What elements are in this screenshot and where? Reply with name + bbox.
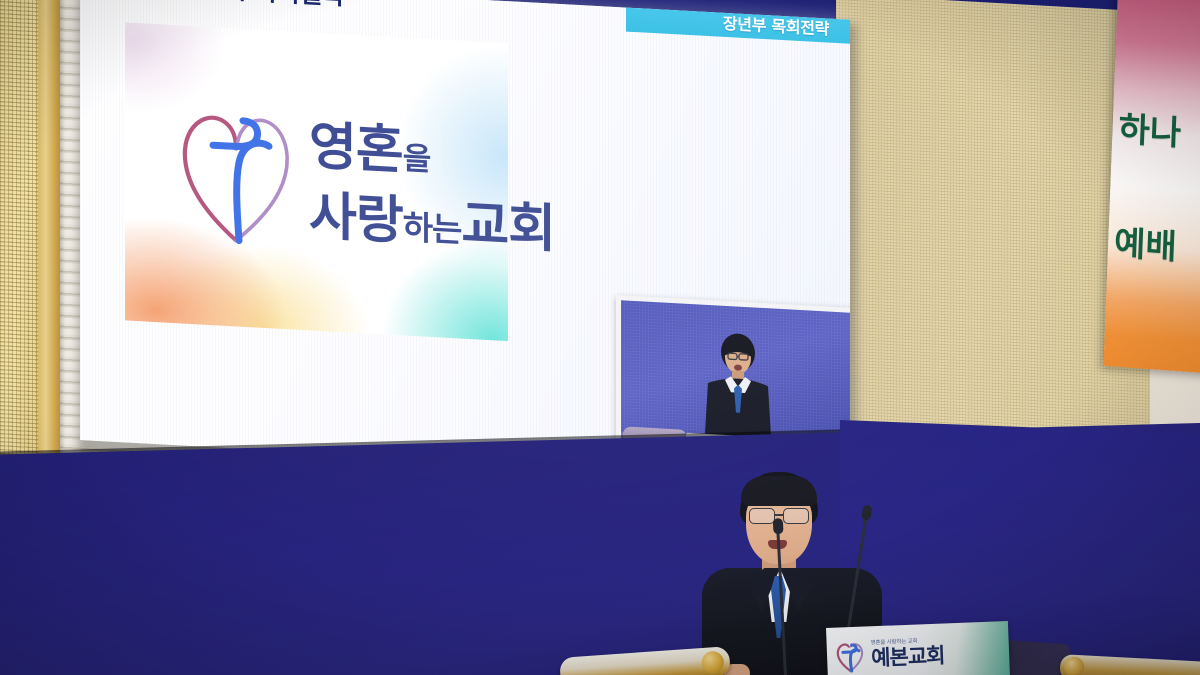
perforated-acoustic-panel (0, 0, 40, 489)
rail-knob-right (1064, 656, 1085, 675)
logo-panel: 영혼을 사랑하는교회 (125, 22, 508, 341)
projection-screen: 1. 예본교회 목회철학 장년부 목회전략 영혼을 사랑하는교회 (80, 0, 850, 482)
slide-title: 1. 예본교회 목회철학 (122, 0, 344, 12)
wood-pillar (38, 0, 60, 487)
banner-line-2: 예배 (1114, 226, 1200, 272)
logo-line-2: 사랑하는교회 (309, 173, 555, 261)
podium-church-name: 예본교회 (871, 646, 945, 670)
podium-sign: 영혼을 사랑하는 교회 예본교회 (826, 621, 1010, 675)
banner-line-1: 하나 (1118, 112, 1200, 158)
church-logo: 영혼을 사랑하는교회 (177, 77, 507, 275)
church-logo-wordmark: 영혼을 사랑하는교회 (309, 99, 507, 260)
logo-line-1: 영혼을 (309, 103, 430, 185)
rail-knob-left (701, 651, 724, 674)
podium-sign-text: 영혼을 사랑하는 교회 예본교회 (871, 638, 945, 669)
podium-logo-icon (834, 639, 865, 674)
speaker-hair-front (741, 476, 817, 506)
vertical-banner: 하나 예배 (1103, 0, 1200, 374)
presentation-scene: 하나 예배 1. 예본교회 목회철학 장년부 목회전략 영혼을 (0, 0, 1200, 675)
heart-person-logo-icon (177, 87, 295, 253)
screen-surface: 1. 예본교회 목회철학 장년부 목회전략 영혼을 사랑하는교회 (80, 0, 850, 482)
